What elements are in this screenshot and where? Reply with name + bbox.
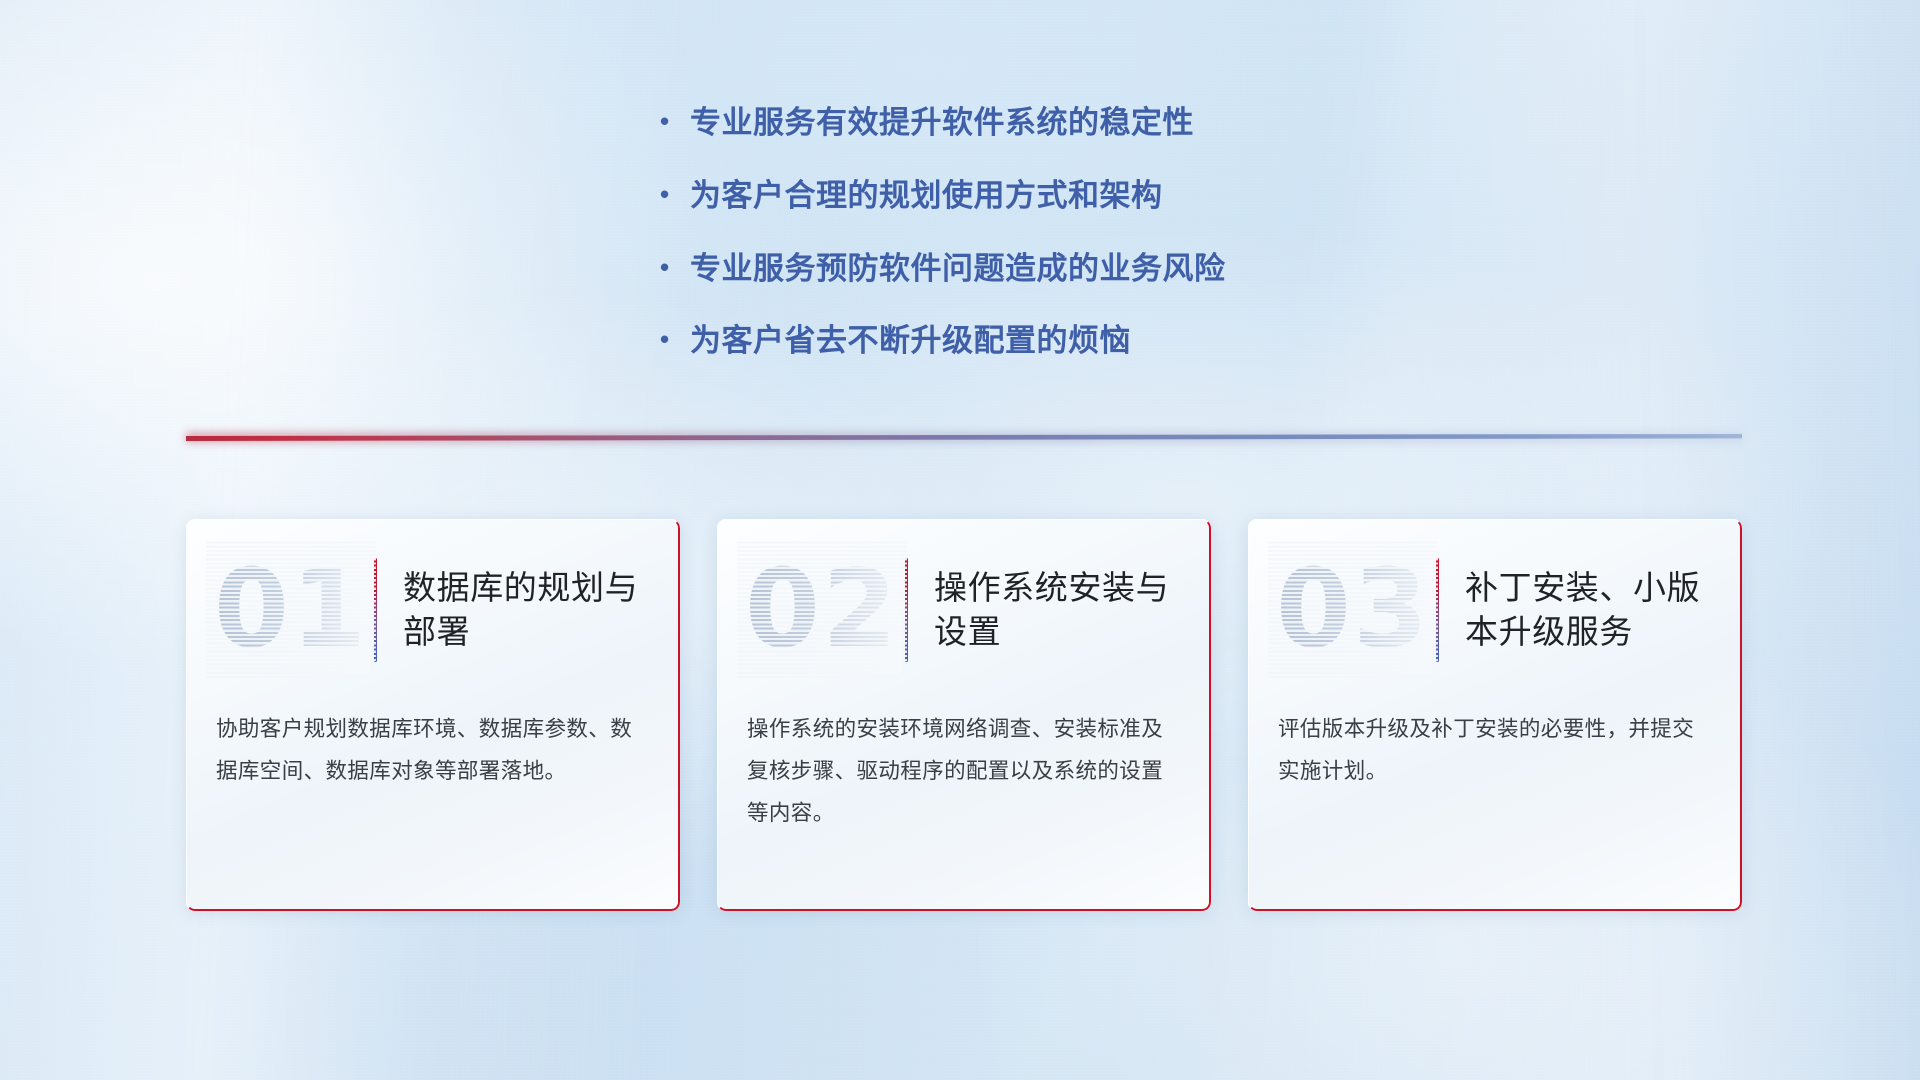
card-body-text: 操作系统的安装环境网络调查、安装标准及复核步骤、驱动程序的配置以及系统的设置等内… xyxy=(717,709,1211,835)
bullet-item-3: • 专业服务预防软件问题造成的业务风险 xyxy=(660,250,1560,288)
card-header: 02 操作系统安装与设置 xyxy=(717,519,1211,701)
card-number-text: 03 xyxy=(1276,556,1430,664)
section-divider xyxy=(186,430,1742,446)
card-body-text: 评估版本升级及补丁安装的必要性，并提交实施计划。 xyxy=(1248,709,1742,793)
card-number-badge: 02 xyxy=(743,546,901,674)
bullet-item-4: • 为客户省去不断升级配置的烦恼 xyxy=(660,322,1560,360)
bullet-marker-icon: • xyxy=(660,177,690,211)
card-body-text: 协助客户规划数据库环境、数据库参数、数据库空间、数据库对象等部署落地。 xyxy=(186,709,680,793)
service-card-row: 01 数据库的规划与部署 协助客户规划数据库环境、数据库参数、数据库空间、数据库… xyxy=(186,519,1742,919)
card-number-text: 02 xyxy=(745,556,899,664)
card-accent-bar xyxy=(1436,558,1439,662)
card-number-text: 01 xyxy=(214,556,368,664)
card-accent-bar xyxy=(905,558,908,662)
bullet-item-1: • 专业服务有效提升软件系统的稳定性 xyxy=(660,104,1560,142)
bullet-text-1: 专业服务有效提升软件系统的稳定性 xyxy=(690,104,1560,142)
card-accent-bar xyxy=(374,558,377,662)
bullet-marker-icon: • xyxy=(660,104,690,138)
bullet-text-2: 为客户合理的规划使用方式和架构 xyxy=(690,177,1560,215)
card-number-badge: 01 xyxy=(212,546,370,674)
bullet-text-3: 专业服务预防软件问题造成的业务风险 xyxy=(690,250,1560,288)
service-card-01[interactable]: 01 数据库的规划与部署 协助客户规划数据库环境、数据库参数、数据库空间、数据库… xyxy=(186,519,680,911)
card-header: 03 补丁安装、小版本升级服务 xyxy=(1248,519,1742,701)
service-card-03[interactable]: 03 补丁安装、小版本升级服务 评估版本升级及补丁安装的必要性，并提交实施计划。 xyxy=(1248,519,1742,911)
card-title: 操作系统安装与设置 xyxy=(934,566,1185,654)
service-card-02[interactable]: 02 操作系统安装与设置 操作系统的安装环境网络调查、安装标准及复核步骤、驱动程… xyxy=(717,519,1211,911)
bullet-item-2: • 为客户合理的规划使用方式和架构 xyxy=(660,177,1560,215)
card-header: 01 数据库的规划与部署 xyxy=(186,519,680,701)
card-number-badge: 03 xyxy=(1274,546,1432,674)
card-title: 数据库的规划与部署 xyxy=(403,566,654,654)
bullet-marker-icon: • xyxy=(660,322,690,356)
benefits-bullet-list: • 专业服务有效提升软件系统的稳定性 • 为客户合理的规划使用方式和架构 • 专… xyxy=(660,104,1560,395)
bullet-marker-icon: • xyxy=(660,250,690,284)
card-title: 补丁安装、小版本升级服务 xyxy=(1465,566,1716,654)
bullet-text-4: 为客户省去不断升级配置的烦恼 xyxy=(690,322,1560,360)
